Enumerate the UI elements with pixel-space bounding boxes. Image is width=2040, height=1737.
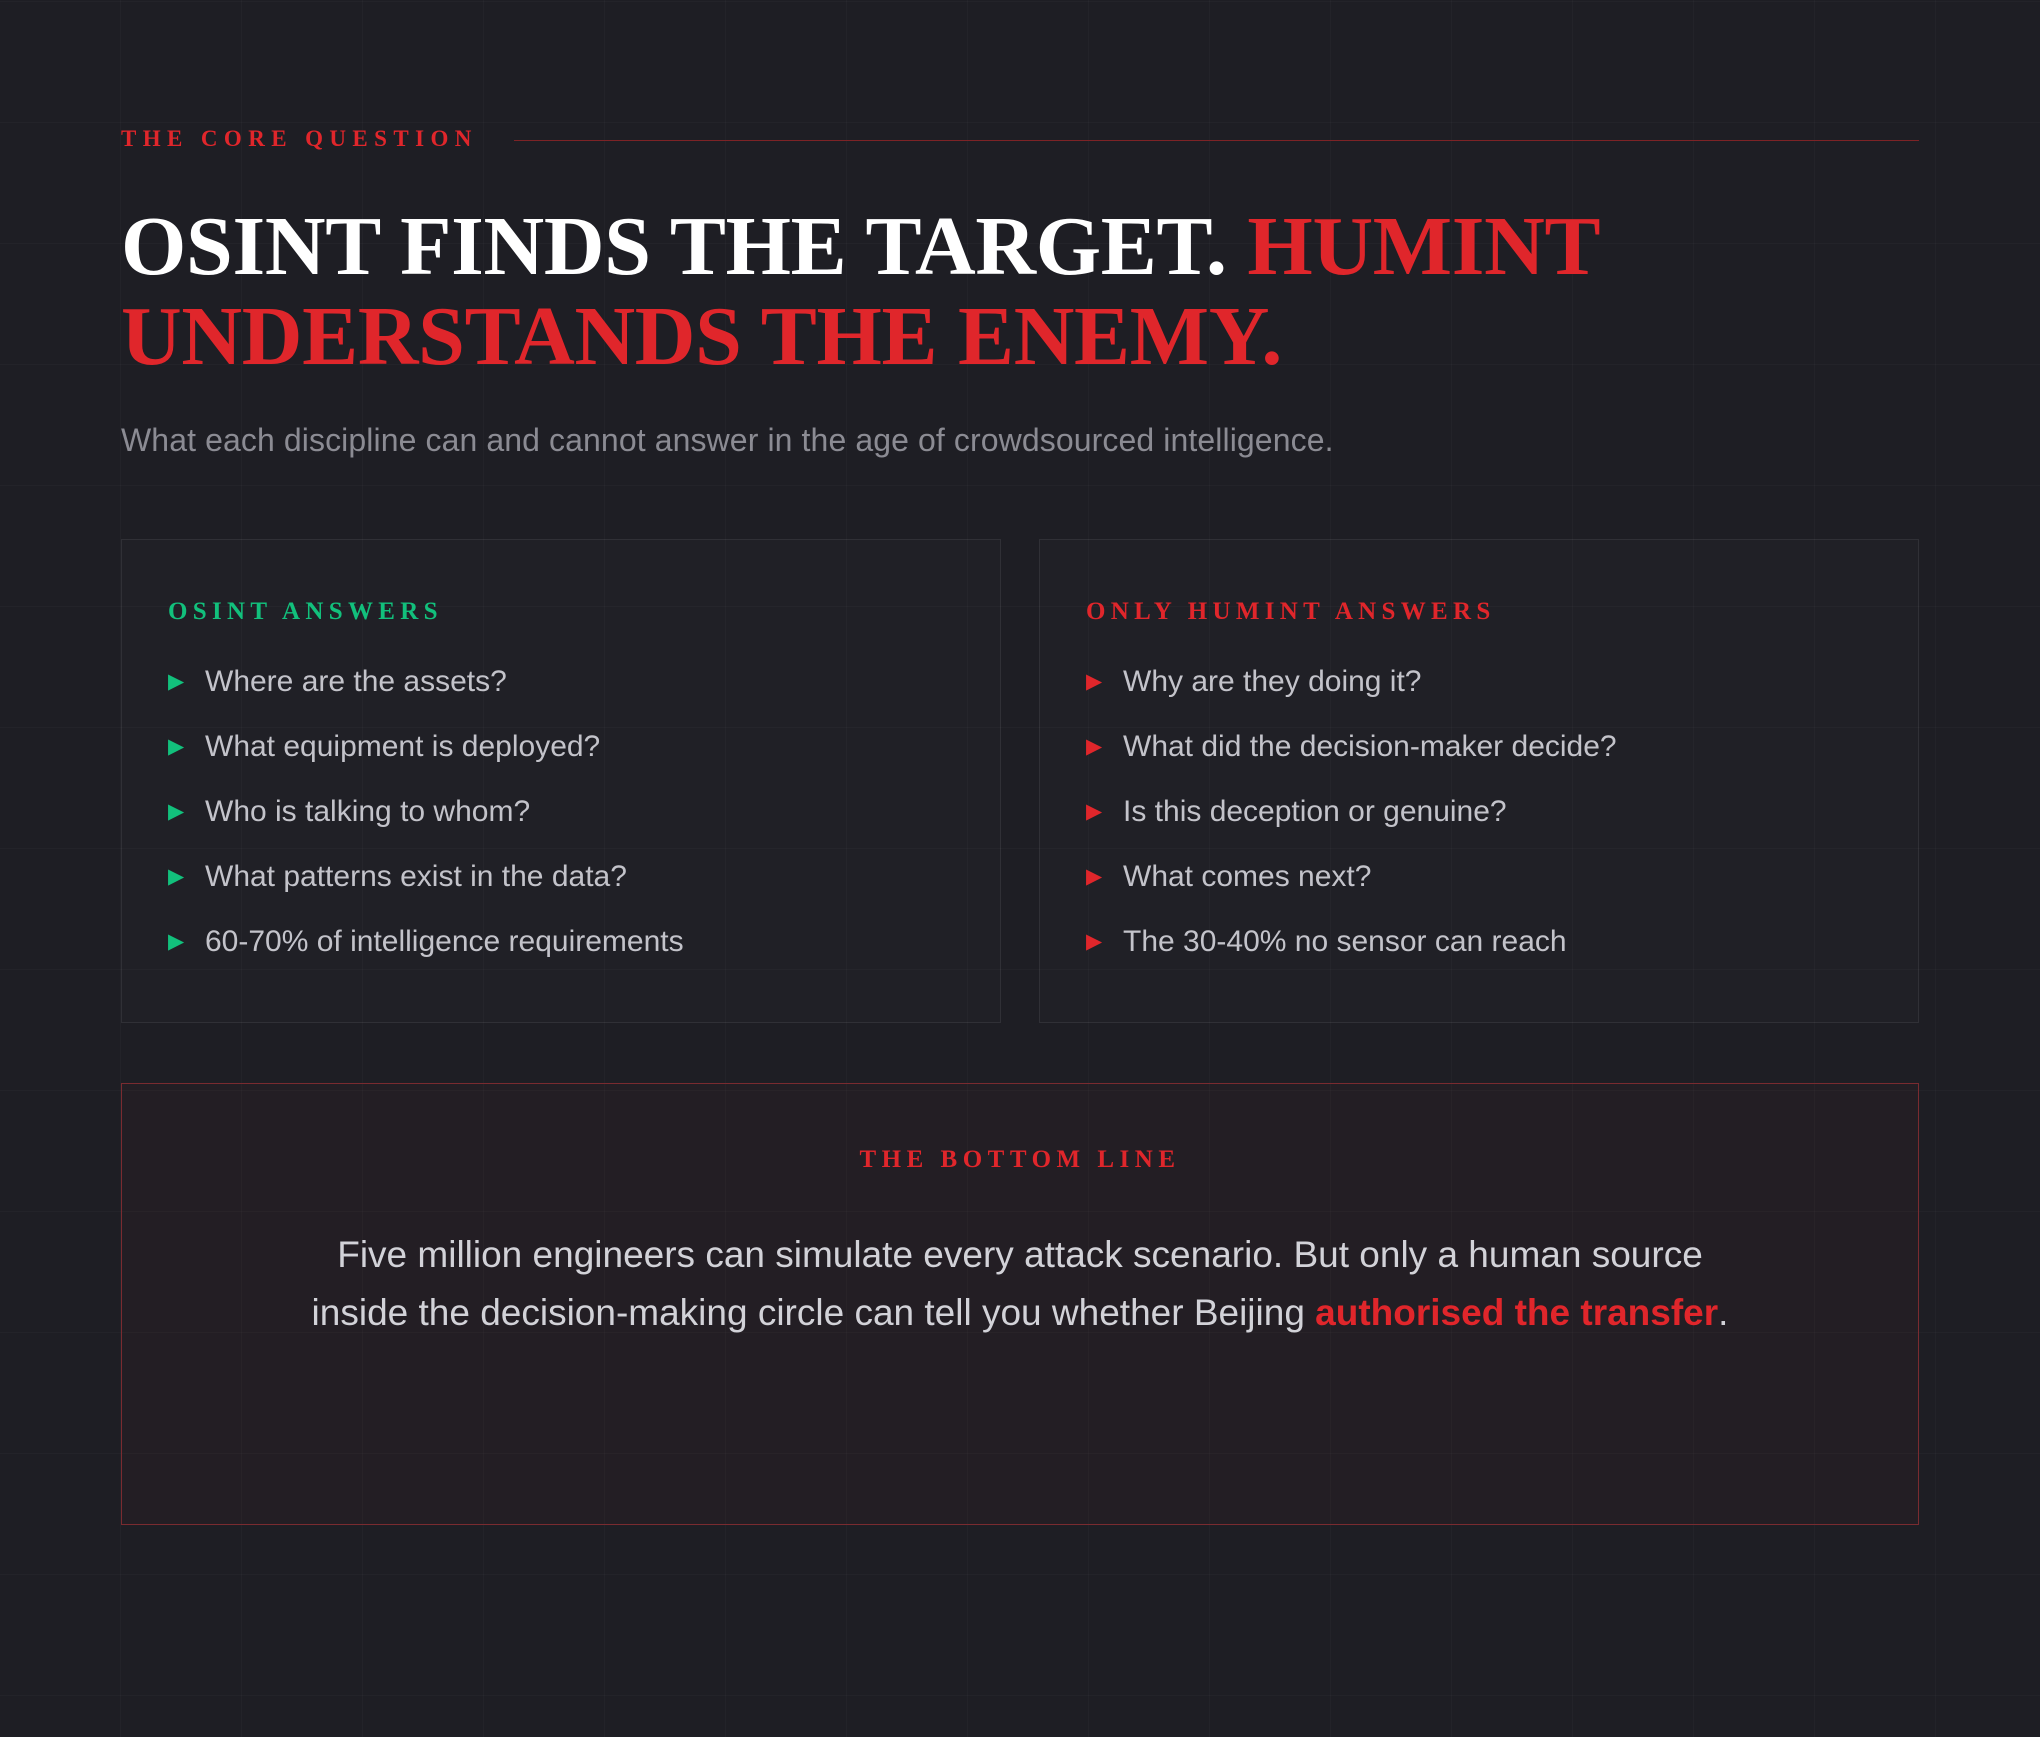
triangle-right-icon: ▶: [168, 664, 194, 700]
triangle-right-icon: ▶: [1086, 664, 1112, 700]
bottom-line-panel: THE BOTTOM LINE Five million engineers c…: [121, 1083, 1919, 1525]
list-item: ▶ What did the decision-maker decide?: [1086, 729, 1918, 765]
osint-answer-list: ▶ Where are the assets? ▶ What equipment…: [168, 664, 1000, 960]
triangle-right-icon: ▶: [168, 794, 194, 830]
list-item-label: Who is talking to whom?: [205, 794, 530, 830]
page-title: OSINT FINDS THE TARGET. HUMINT UNDERSTAN…: [121, 202, 1761, 382]
card-humint-answers: ONLY HUMINT ANSWERS ▶ Why are they doing…: [1039, 539, 1919, 1023]
card-title-osint: OSINT ANSWERS: [168, 598, 1000, 626]
triangle-right-icon: ▶: [1086, 924, 1112, 960]
list-item: ▶ What comes next?: [1086, 859, 1918, 895]
answer-cards-row: OSINT ANSWERS ▶ Where are the assets? ▶ …: [121, 539, 1919, 1023]
list-item: ▶ Is this deception or genuine?: [1086, 794, 1918, 830]
card-osint-answers: OSINT ANSWERS ▶ Where are the assets? ▶ …: [121, 539, 1001, 1023]
eyebrow-divider: [514, 140, 1919, 141]
bottom-line-body: Five million engineers can simulate ever…: [310, 1226, 1730, 1343]
list-item: ▶ 60-70% of intelligence requirements: [168, 924, 1000, 960]
card-title-humint: ONLY HUMINT ANSWERS: [1086, 598, 1918, 626]
headline-part-white: OSINT FINDS THE TARGET.: [121, 200, 1227, 293]
triangle-right-icon: ▶: [1086, 859, 1112, 895]
humint-answer-list: ▶ Why are they doing it? ▶ What did the …: [1086, 664, 1918, 960]
list-item-label: What did the decision-maker decide?: [1123, 729, 1617, 765]
bottom-line-body-after: .: [1718, 1292, 1728, 1333]
list-item: ▶ What patterns exist in the data?: [168, 859, 1000, 895]
list-item: ▶ Why are they doing it?: [1086, 664, 1918, 700]
list-item-label: The 30-40% no sensor can reach: [1123, 924, 1567, 960]
list-item: ▶ Where are the assets?: [168, 664, 1000, 700]
page-subtitle: What each discipline can and cannot answ…: [121, 422, 1919, 459]
eyebrow-label: THE CORE QUESTION: [121, 126, 478, 152]
list-item: ▶ What equipment is deployed?: [168, 729, 1000, 765]
list-item-label: Where are the assets?: [205, 664, 507, 700]
list-item-label: 60-70% of intelligence requirements: [205, 924, 684, 960]
list-item: ▶ The 30-40% no sensor can reach: [1086, 924, 1918, 960]
list-item-label: What patterns exist in the data?: [205, 859, 627, 895]
bottom-line-highlight: authorised the transfer: [1315, 1292, 1718, 1333]
list-item-label: What comes next?: [1123, 859, 1371, 895]
bottom-line-title: THE BOTTOM LINE: [272, 1146, 1768, 1174]
triangle-right-icon: ▶: [1086, 794, 1112, 830]
triangle-right-icon: ▶: [168, 924, 194, 960]
triangle-right-icon: ▶: [168, 859, 194, 895]
list-item-label: What equipment is deployed?: [205, 729, 600, 765]
list-item-label: Why are they doing it?: [1123, 664, 1422, 700]
list-item-label: Is this deception or genuine?: [1123, 794, 1507, 830]
triangle-right-icon: ▶: [168, 729, 194, 765]
page-root: THE CORE QUESTION OSINT FINDS THE TARGET…: [0, 0, 2040, 1737]
eyebrow-row: THE CORE QUESTION: [121, 0, 1919, 152]
triangle-right-icon: ▶: [1086, 729, 1112, 765]
list-item: ▶ Who is talking to whom?: [168, 794, 1000, 830]
